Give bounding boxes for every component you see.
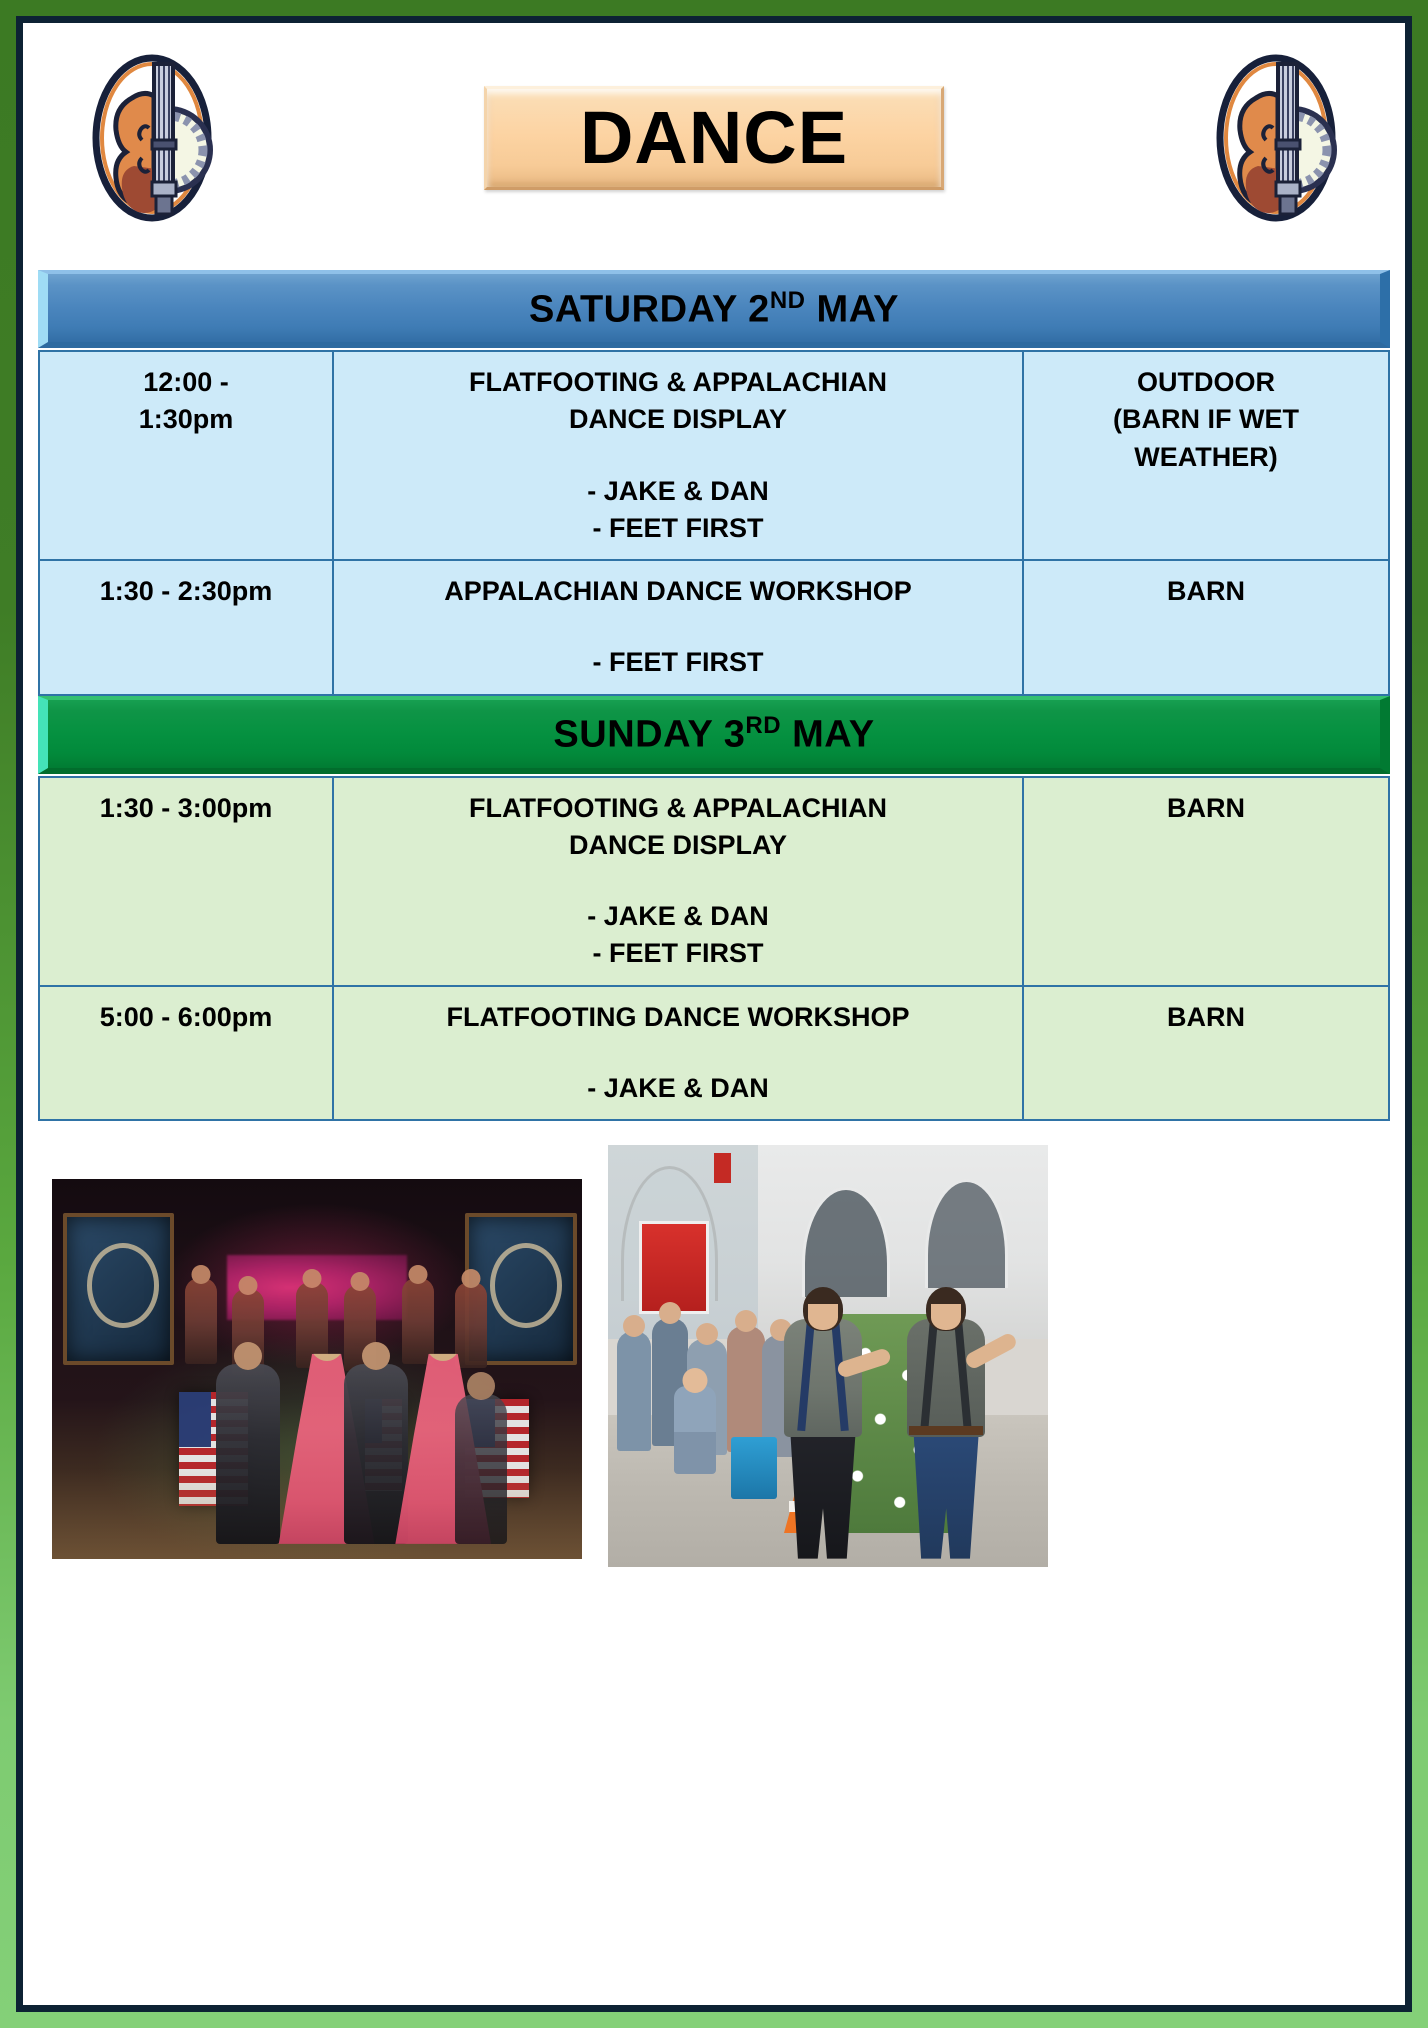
row-event-cell: APPALACHIAN DANCE WORKSHOP - FEET FIRST <box>334 561 1024 694</box>
time-line: 5:00 - 6:00pm <box>46 999 326 1036</box>
event-line: DANCE DISPLAY <box>340 827 1016 864</box>
red-wall-box <box>714 1153 732 1183</box>
venue-line: OUTDOOR <box>1030 364 1382 401</box>
poster-header: DANCE <box>30 28 1398 270</box>
band-musician <box>402 1278 434 1364</box>
time-line: 12:00 - <box>46 364 326 401</box>
spectator <box>617 1331 651 1451</box>
row-time-cell: 1:30 - 3:00pm <box>40 778 334 985</box>
saturday-date-ordinal: ND <box>770 287 806 314</box>
day-banner-saturday: SATURDAY 2ND MAY <box>38 270 1390 348</box>
photo-street-flatfooting <box>608 1145 1048 1567</box>
venue-line: BARN <box>1030 999 1382 1036</box>
venue-line: (BARN IF WET <box>1030 401 1382 438</box>
poster-content: DANCE <box>30 28 1398 2000</box>
saturday-rows: 12:00 - 1:30pm FLATFOOTING & APPALACHIAN… <box>38 350 1390 696</box>
venue-line: WEATHER) <box>1030 439 1382 476</box>
dancer-head <box>803 1287 843 1331</box>
time-line: 1:30 - 2:30pm <box>46 573 326 610</box>
dancer-male <box>216 1364 280 1544</box>
day-banner-saturday-label: SATURDAY 2ND MAY <box>529 287 899 332</box>
row-venue-cell: BARN <box>1024 778 1388 985</box>
street-scene <box>608 1145 1048 1567</box>
table-row: 1:30 - 3:00pm FLATFOOTING & APPALACHIAN … <box>38 776 1390 987</box>
schedule-table: SATURDAY 2ND MAY 12:00 - 1:30pm FLATFOOT… <box>38 270 1390 1121</box>
band-musician <box>455 1282 487 1368</box>
dancer-torso <box>784 1319 862 1437</box>
venue-line: BARN <box>1030 573 1382 610</box>
sunday-date-month: MAY <box>781 714 875 756</box>
row-event-cell: FLATFOOTING & APPALACHIAN DANCE DISPLAY … <box>334 778 1024 985</box>
page-title: DANCE <box>580 101 848 175</box>
row-venue-cell: BARN <box>1024 561 1388 694</box>
spectator <box>727 1326 765 1452</box>
table-row: 1:30 - 2:30pm APPALACHIAN DANCE WORKSHOP… <box>38 561 1390 696</box>
event-line: FLATFOOTING DANCE WORKSHOP <box>340 999 1016 1036</box>
row-event-cell: FLATFOOTING DANCE WORKSHOP - JAKE & DAN <box>334 987 1024 1120</box>
performer-line: - FEET FIRST <box>340 644 1016 681</box>
sunday-rows: 1:30 - 3:00pm FLATFOOTING & APPALACHIAN … <box>38 776 1390 1122</box>
table-row: 5:00 - 6:00pm FLATFOOTING DANCE WORKSHOP… <box>38 987 1390 1122</box>
poster-title-box: DANCE <box>484 86 944 190</box>
spectator-child <box>674 1386 716 1474</box>
dancer-torso <box>907 1319 985 1437</box>
shopping-bag <box>731 1437 777 1499</box>
fiddle-banjo-logo-left <box>68 54 236 222</box>
stage-scene <box>52 1179 582 1559</box>
performer-line: - JAKE & DAN <box>340 898 1016 935</box>
row-venue-cell: BARN <box>1024 987 1388 1120</box>
band-musician <box>185 1278 217 1364</box>
performer-line: - JAKE & DAN <box>340 473 1016 510</box>
sunday-date-main: SUNDAY 3 <box>553 714 745 756</box>
row-event-cell: FLATFOOTING & APPALACHIAN DANCE DISPLAY … <box>334 352 1024 559</box>
dancer-head <box>926 1287 966 1331</box>
row-time-cell: 1:30 - 2:30pm <box>40 561 334 694</box>
time-line: 1:30pm <box>46 401 326 438</box>
row-venue-cell: OUTDOOR (BARN IF WET WEATHER) <box>1024 352 1388 559</box>
red-poster <box>639 1221 709 1314</box>
saturday-date-month: MAY <box>805 288 899 330</box>
day-banner-sunday-label: SUNDAY 3RD MAY <box>553 712 874 757</box>
event-line: APPALACHIAN DANCE WORKSHOP <box>340 573 1016 610</box>
fiddle-banjo-logo-right <box>1192 54 1360 222</box>
row-time-cell: 5:00 - 6:00pm <box>40 987 334 1120</box>
table-row: 12:00 - 1:30pm FLATFOOTING & APPALACHIAN… <box>38 350 1390 561</box>
venue-line: BARN <box>1030 790 1382 827</box>
time-line: 1:30 - 3:00pm <box>46 790 326 827</box>
poster: DANCE <box>0 0 1428 2028</box>
performer-line: - FEET FIRST <box>340 935 1016 972</box>
row-time-cell: 12:00 - 1:30pm <box>40 352 334 559</box>
performer-line: - JAKE & DAN <box>340 1070 1016 1107</box>
dancer-male <box>455 1394 507 1544</box>
photo-barn-dance-stage <box>52 1179 582 1559</box>
event-line: FLATFOOTING & APPALACHIAN <box>340 790 1016 827</box>
day-banner-sunday: SUNDAY 3RD MAY <box>38 696 1390 774</box>
performer-line: - FEET FIRST <box>340 510 1016 547</box>
event-line: FLATFOOTING & APPALACHIAN <box>340 364 1016 401</box>
dancer-male <box>344 1364 408 1544</box>
photo-gallery <box>30 1137 1398 1607</box>
dancer-belt <box>909 1426 983 1435</box>
saturday-date-main: SATURDAY 2 <box>529 288 770 330</box>
venue-sign <box>63 1213 174 1365</box>
event-line: DANCE DISPLAY <box>340 401 1016 438</box>
sunday-date-ordinal: RD <box>745 712 781 739</box>
